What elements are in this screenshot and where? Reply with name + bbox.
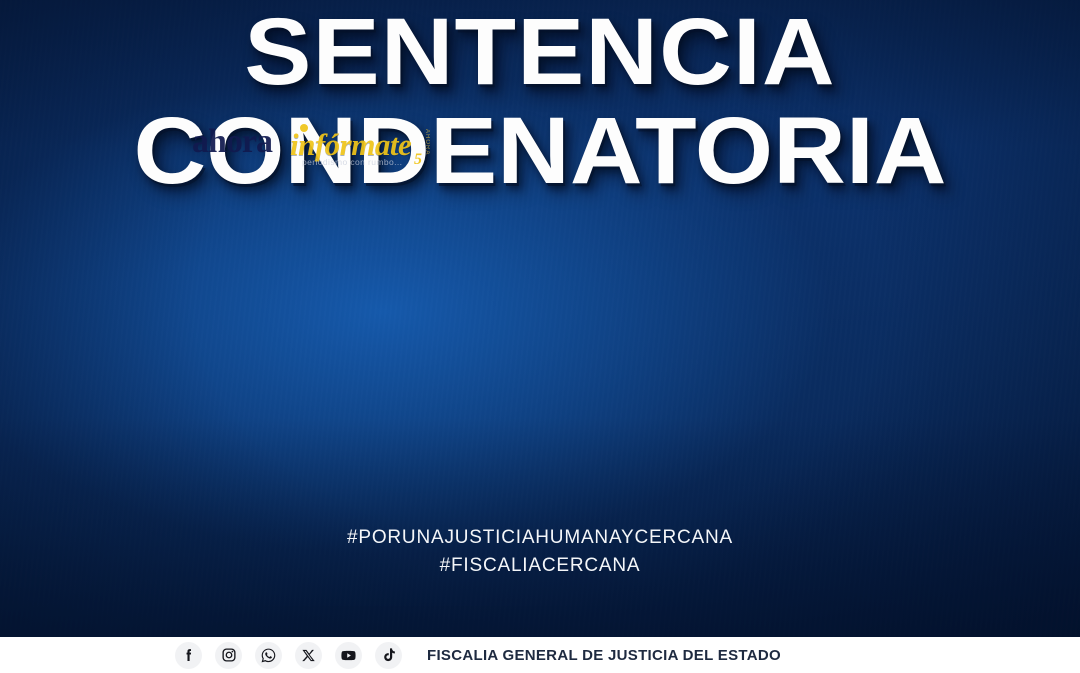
social-links bbox=[175, 642, 402, 669]
whatsapp-icon[interactable] bbox=[255, 642, 282, 669]
x-icon[interactable] bbox=[295, 642, 322, 669]
footer-bar: FISCALIA GENERAL DE JUSTICIA DEL ESTADO bbox=[0, 637, 1080, 673]
youtube-icon[interactable] bbox=[335, 642, 362, 669]
poster-canvas: SENTENCIA CONDENATORIA ahora infórmate p… bbox=[0, 0, 1080, 673]
hashtag-block: #PORUNAJUSTICIAHUMANAYCERCANA #FISCALIAC… bbox=[0, 524, 1080, 580]
footer-organization-name: FISCALIA GENERAL DE JUSTICIA DEL ESTADO bbox=[427, 647, 781, 664]
instagram-icon[interactable] bbox=[215, 642, 242, 669]
facebook-icon[interactable] bbox=[175, 642, 202, 669]
hashtag-secondary: #FISCALIACERCANA bbox=[0, 552, 1080, 580]
hashtag-primary: #PORUNAJUSTICIAHUMANAYCERCANA bbox=[0, 524, 1080, 552]
tiktok-icon[interactable] bbox=[375, 642, 402, 669]
